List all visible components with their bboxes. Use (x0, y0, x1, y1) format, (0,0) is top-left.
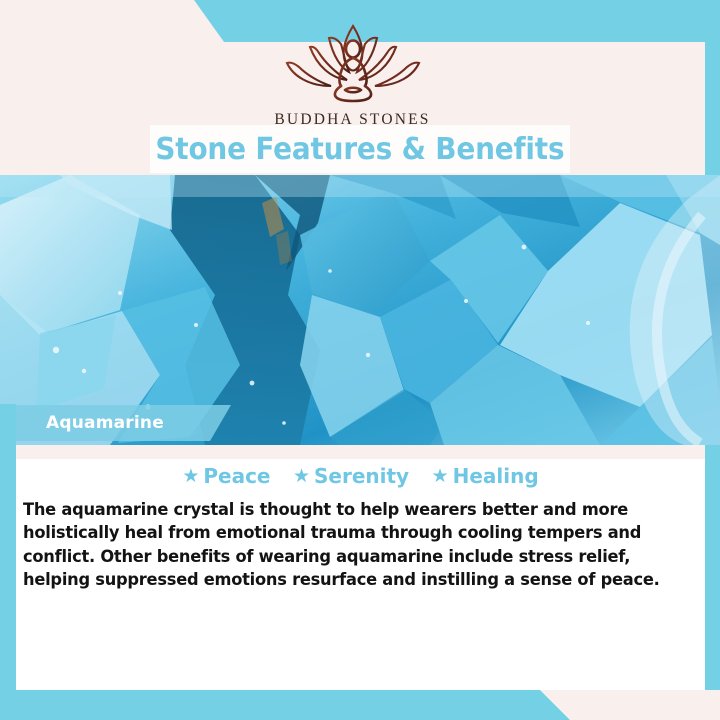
infographic-page: BUDDHA STONES Stone Features & Benefits (0, 0, 720, 720)
keyword-label: Peace (203, 464, 270, 488)
keyword-label: Serenity (314, 464, 409, 488)
keyword-item-serenity: ★Serenity (293, 464, 409, 488)
star-icon: ★ (182, 465, 199, 488)
star-icon: ★ (293, 465, 310, 488)
content-cream-strip (16, 445, 705, 459)
keyword-item-peace: ★Peace (182, 464, 270, 488)
lotus-meditation-icon (0, 22, 705, 109)
stone-name-banner: Aquamarine (16, 405, 231, 441)
keyword-label: Healing (453, 464, 539, 488)
content-panel: ★Peace ★Serenity ★Healing The aquamarine… (16, 459, 705, 690)
star-icon: ★ (432, 465, 449, 488)
keyword-item-healing: ★Healing (432, 464, 539, 488)
description-text: The aquamarine crystal is thought to hel… (23, 498, 688, 592)
crystal-hero-image (0, 175, 720, 445)
brand-logo: BUDDHA STONES (0, 22, 705, 129)
page-title-banner: Stone Features & Benefits (150, 125, 570, 173)
keyword-list: ★Peace ★Serenity ★Healing (16, 464, 705, 488)
stone-name: Aquamarine (16, 413, 164, 433)
page-title: Stone Features & Benefits (156, 132, 565, 167)
left-accent-strip (0, 404, 16, 690)
